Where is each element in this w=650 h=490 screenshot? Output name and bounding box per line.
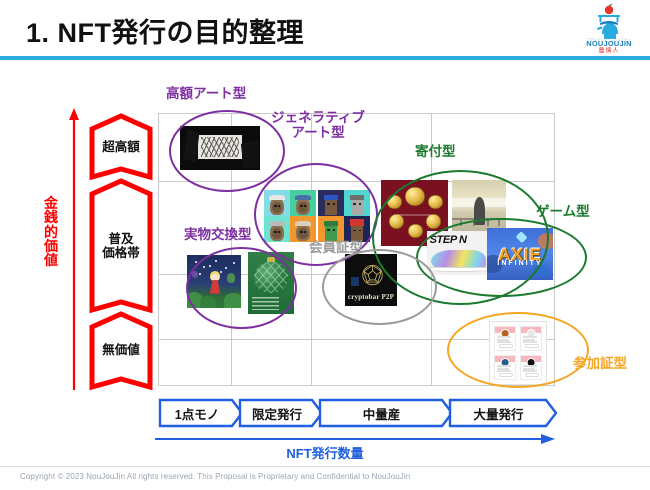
category-label-high-price-art: 高額アート型	[166, 86, 246, 101]
x-step-limited-edition-label: 限定発行	[252, 404, 302, 423]
y-band-mass-market: 普及 価格帯	[88, 178, 154, 314]
page-title: 1. NFT発行の目的整理	[26, 11, 304, 50]
y-axis-title-char-2: 銭	[40, 210, 62, 224]
footer-divider	[0, 466, 650, 467]
y-axis-arrow-icon	[68, 108, 80, 390]
copyright-notice: Copyright © 2023 NouJouJin All rights re…	[20, 472, 410, 481]
x-step-single-item-label: 1点モノ	[175, 404, 219, 423]
y-band-ultra-high-label: 超高額	[102, 140, 140, 154]
y-axis-title-char-3: 的	[40, 225, 62, 239]
logo-subtext: 農情人	[598, 47, 619, 55]
cluster-ellipse-membership	[322, 249, 437, 325]
category-label-membership: 会員証型	[309, 240, 363, 255]
x-step-medium-volume-label: 中量産	[363, 404, 401, 423]
category-label-generative-art-line1: ジェネラティブ	[265, 110, 371, 125]
x-step-single-item: 1点モノ	[158, 398, 244, 428]
logo-mark-icon: NOUJOUJIN アグリテック・コミュニティ 農情人	[576, 4, 642, 54]
y-band-mass-market-label-line1: 普及	[102, 232, 140, 246]
x-step-mass-issuance-label: 大量発行	[473, 404, 523, 423]
x-step-medium-volume: 中量産	[318, 398, 454, 428]
x-step-limited-edition: 限定発行	[238, 398, 324, 428]
y-band-mass-market-label-line2: 価格帯	[102, 246, 140, 260]
noujoujin-logo: NOUJOUJIN アグリテック・コミュニティ 農情人	[576, 4, 642, 54]
category-label-generative-art: ジェネラティブ アート型	[265, 110, 371, 140]
y-band-mass-market-label: 普及 価格帯	[102, 232, 140, 261]
y-band-ultra-high: 超高額	[88, 113, 154, 181]
header-divider	[0, 56, 650, 60]
x-axis-title: NFT発行数量	[0, 443, 650, 462]
y-axis-title: 金 銭 的 価 値	[40, 196, 62, 267]
y-band-no-value: 無価値	[88, 311, 154, 390]
logo-tagline: アグリテック・コミュニティ	[587, 37, 631, 42]
x-step-mass-issuance: 大量発行	[448, 398, 558, 428]
category-label-donation: 寄付型	[415, 144, 456, 159]
category-label-participation: 参加証型	[573, 356, 627, 371]
y-band-no-value-label: 無価値	[102, 343, 140, 357]
cluster-ellipse-participation	[447, 312, 589, 388]
category-label-physical-exchange: 実物交換型	[184, 227, 252, 242]
y-axis-title-char-5: 値	[40, 253, 62, 267]
cluster-ellipse-game	[416, 218, 587, 297]
y-axis-title-char-1: 金	[40, 196, 62, 210]
category-label-game: ゲーム型	[536, 204, 590, 219]
cluster-ellipse-physical-exchange	[186, 247, 297, 329]
category-label-generative-art-line2: アート型	[265, 125, 371, 140]
y-axis-title-char-4: 価	[40, 239, 62, 253]
